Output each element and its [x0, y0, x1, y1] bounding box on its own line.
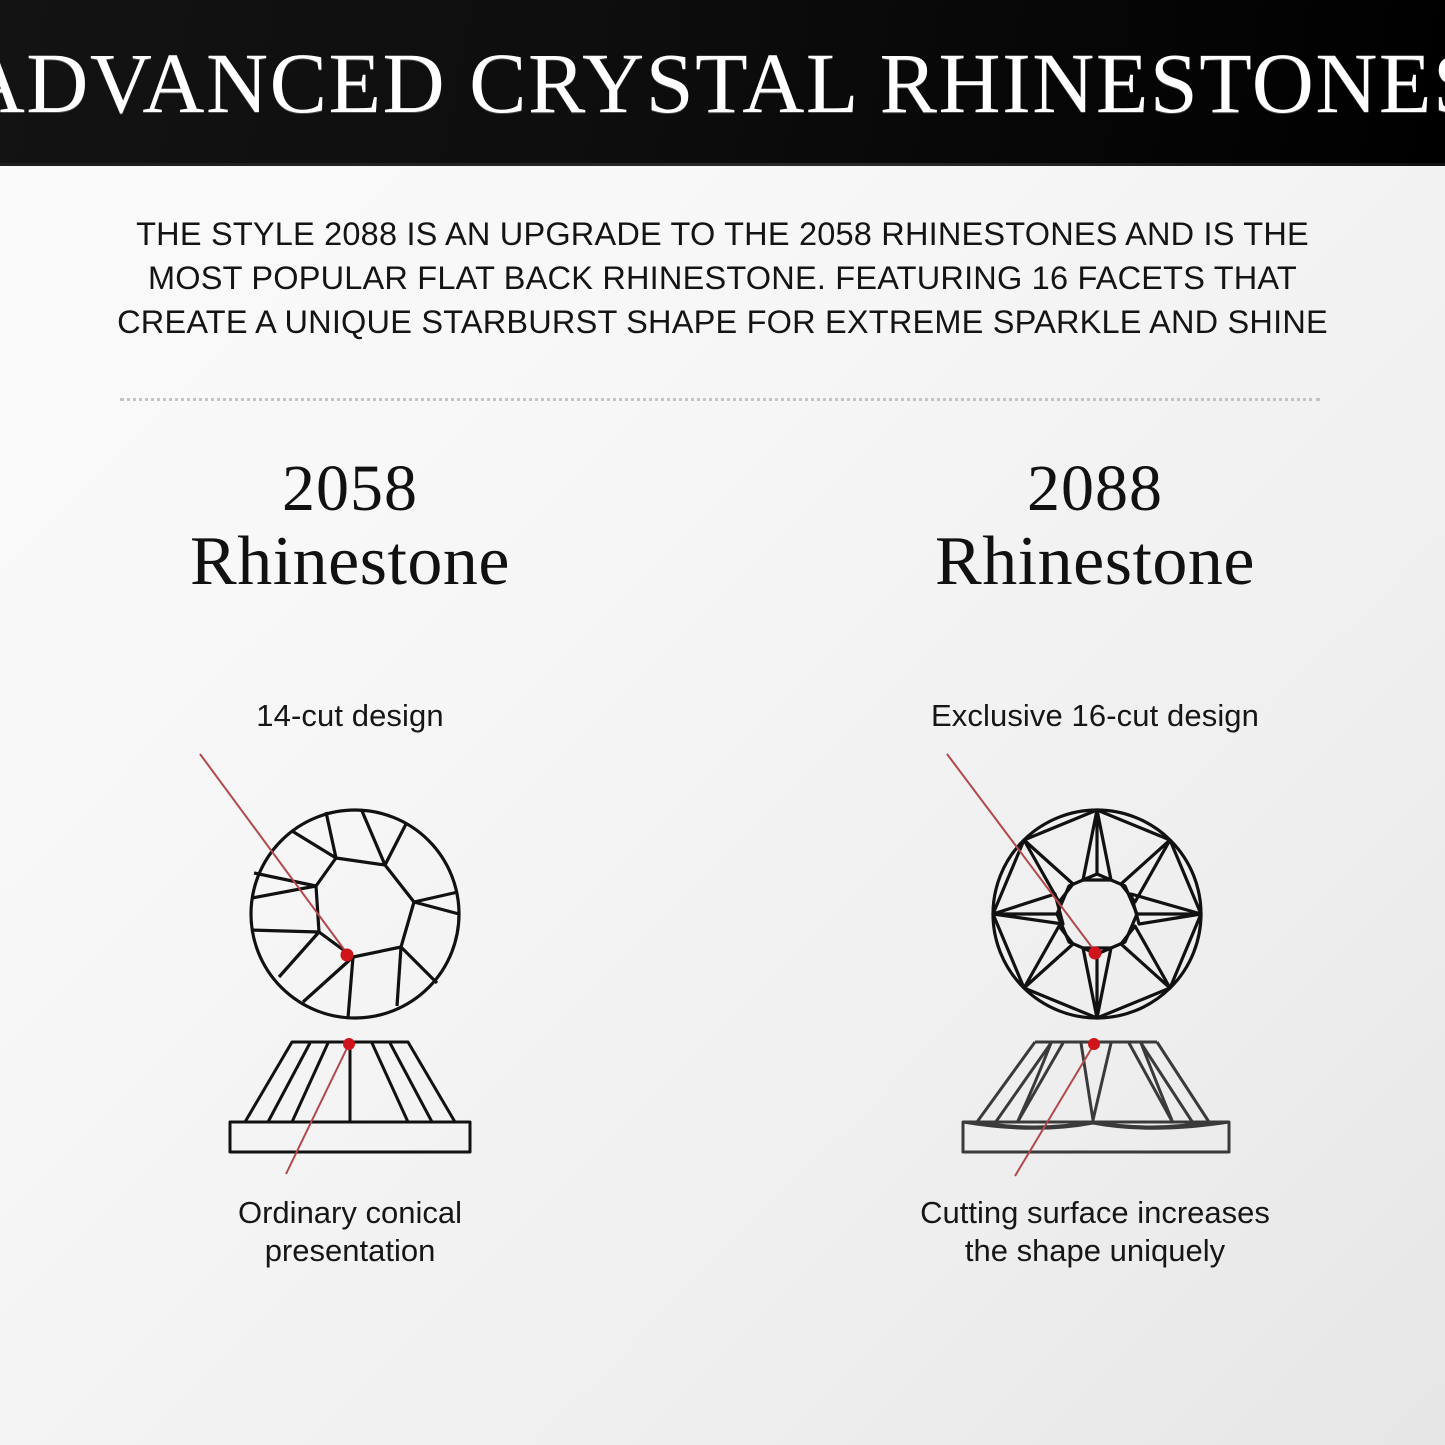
column-2058-number: 2058	[30, 455, 670, 522]
leader-line	[947, 754, 1094, 950]
column-2058-heading: 2058 Rhinestone	[30, 455, 670, 598]
caption-2088-line-1: Cutting surface increases	[775, 1194, 1415, 1232]
column-2088-word: Rhinestone	[775, 526, 1415, 597]
round-14-facet-top-view-icon	[140, 734, 560, 1024]
intro-line-1: THE STYLE 2088 IS AN UPGRADE TO THE 2058…	[100, 212, 1345, 256]
section-divider	[120, 398, 1320, 404]
intro-line-3: CREATE A UNIQUE STARBURST SHAPE FOR EXTR…	[100, 300, 1345, 344]
banner-underline	[0, 163, 1445, 166]
conical-profile-side-view-icon	[140, 1024, 560, 1194]
figure-wrap-2058-side	[30, 1024, 670, 1194]
accent-marker-dot	[1088, 1038, 1100, 1050]
caption-2088: Cutting surface increases the shape uniq…	[775, 1194, 1415, 1270]
caption-2088-line-2: the shape uniquely	[775, 1232, 1415, 1270]
accent-marker-dot	[1089, 946, 1102, 959]
column-2058-word: Rhinestone	[30, 526, 670, 597]
intro-line-2: MOST POPULAR FLAT BACK RHINESTONE. FEATU…	[100, 256, 1345, 300]
caption-2058-line-2: presentation	[30, 1232, 670, 1270]
leader-line	[1015, 1046, 1093, 1176]
callout-16-cut-design: Exclusive 16-cut design	[775, 698, 1415, 734]
infographic-page: ADVANCED CRYSTAL RHINESTONES THE STYLE 2…	[0, 0, 1445, 1445]
accent-marker-dot	[343, 1038, 355, 1050]
callout-14-cut-design: 14-cut design	[30, 698, 670, 734]
column-2058: 2058 Rhinestone 14-cut design	[30, 455, 670, 1270]
figure-wrap-2058-top	[30, 734, 670, 1024]
intro-paragraph: THE STYLE 2088 IS AN UPGRADE TO THE 2058…	[100, 212, 1345, 344]
header-banner: ADVANCED CRYSTAL RHINESTONES	[0, 0, 1445, 165]
figure-wrap-2088-top	[775, 734, 1415, 1024]
caption-2058: Ordinary conical presentation	[30, 1194, 670, 1270]
column-2088: 2088 Rhinestone Exclusive 16-cut design	[775, 455, 1415, 1270]
column-2088-heading: 2088 Rhinestone	[775, 455, 1415, 598]
caption-2058-line-1: Ordinary conical	[30, 1194, 670, 1232]
column-2088-number: 2088	[775, 455, 1415, 522]
starburst-profile-side-view-icon	[885, 1024, 1305, 1194]
starburst-16-facet-top-view-icon	[885, 734, 1305, 1024]
figure-wrap-2088-side	[775, 1024, 1415, 1194]
page-title: ADVANCED CRYSTAL RHINESTONES	[0, 0, 1445, 165]
accent-marker-dot	[341, 948, 354, 961]
leader-line	[200, 754, 346, 952]
